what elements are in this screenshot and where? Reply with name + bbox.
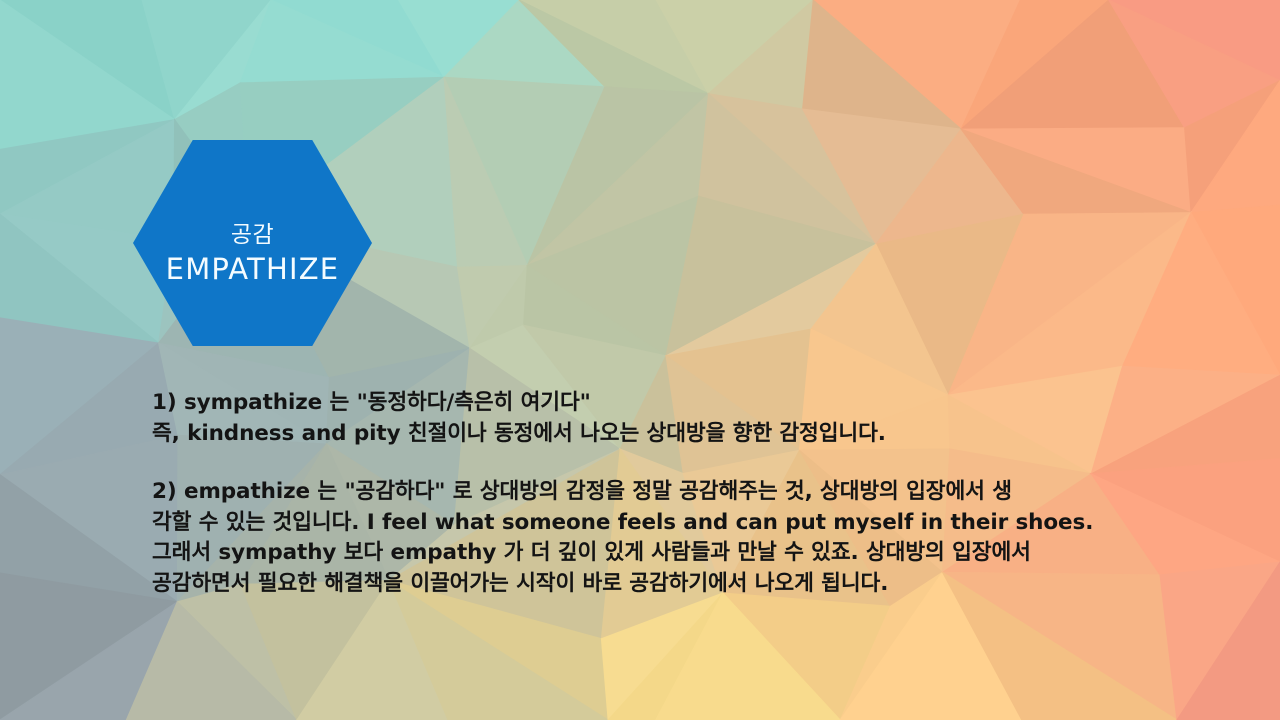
presentation-slide: 공감 EMPATHIZE 1) sympathize 는 "동정하다/측은히 여…	[0, 0, 1280, 720]
paragraph-2-line-1: 2) empathize 는 "공감하다" 로 상대방의 감정을 정말 공감해주…	[152, 477, 1222, 508]
paragraph-2: 2) empathize 는 "공감하다" 로 상대방의 감정을 정말 공감해주…	[152, 477, 1222, 599]
hexagon-label-korean: 공감	[231, 220, 274, 250]
paragraph-2-line-2: 각할 수 있는 것입니다. I feel what someone feels …	[152, 508, 1222, 539]
paragraph-2-line-3: 그래서 sympathy 보다 empathy 가 더 깊이 있게 사람들과 만…	[152, 538, 1222, 569]
slide-body-text: 1) sympathize 는 "동정하다/측은히 여기다" 즉, kindne…	[152, 388, 1222, 599]
paragraph-1-line-1: 1) sympathize 는 "동정하다/측은히 여기다"	[152, 388, 1222, 419]
hexagon-label-english: EMPATHIZE	[166, 250, 340, 288]
paragraph-2-line-4: 공감하면서 필요한 해결책을 이끌어가는 시작이 바로 공감하기에서 나오게 됩…	[152, 569, 1222, 600]
paragraph-1: 1) sympathize 는 "동정하다/측은히 여기다" 즉, kindne…	[152, 388, 1222, 449]
hexagon-label-group: 공감 EMPATHIZE	[133, 140, 372, 346]
paragraph-1-line-2: 즉, kindness and pity 친절이나 동정에서 나오는 상대방을 …	[152, 419, 1222, 450]
empathize-hexagon-badge: 공감 EMPATHIZE	[133, 140, 372, 346]
low-poly-background	[0, 0, 1280, 720]
